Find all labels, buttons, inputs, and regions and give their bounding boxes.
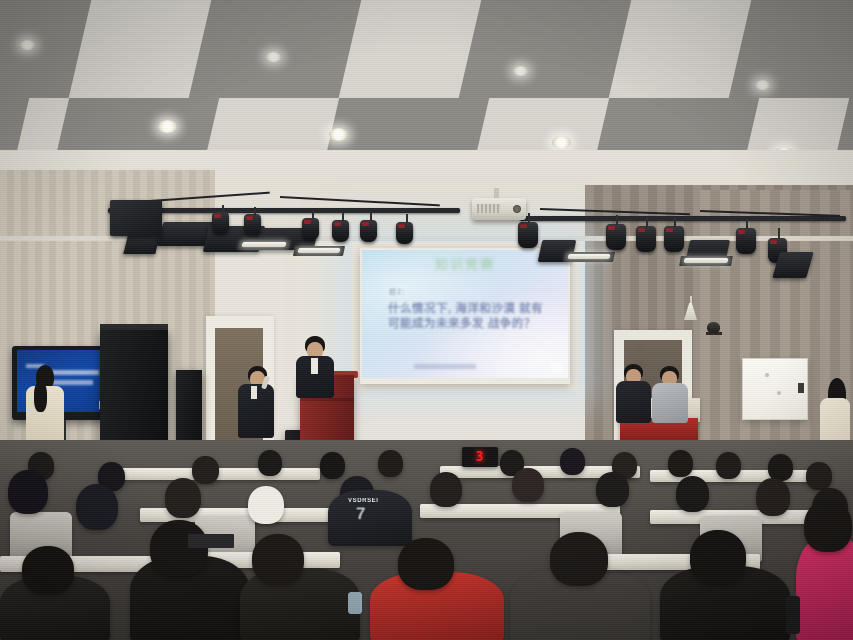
audience-head [550, 532, 608, 586]
thermos-bottle [786, 596, 800, 634]
whiteboard [742, 358, 808, 420]
stage-light-par [736, 228, 756, 254]
projector-lens-icon [513, 205, 521, 213]
audience-head [150, 520, 208, 576]
led-bar-light [684, 258, 729, 263]
stage-light-par [518, 222, 538, 248]
whiteboard-clip-icon [798, 383, 804, 393]
audience-head [668, 450, 693, 477]
ceiling-projector [472, 198, 526, 220]
audience-head [252, 534, 304, 584]
led-timer-value: 3 [476, 450, 485, 465]
desk-row [120, 468, 320, 480]
slide-header: 知识竞赛 [410, 254, 520, 272]
lighting-truss-right [520, 216, 846, 221]
laptop [188, 534, 234, 548]
slide-number: 题2: [389, 287, 405, 297]
slide-body-text: 什么情况下, 海洋和沙漠 就有可能成为未来多发 战争的？ [388, 302, 546, 332]
ceiling-downlight [329, 128, 348, 141]
ceiling-downlight [158, 120, 177, 133]
audience-head [76, 484, 118, 530]
slide-footer-bar [414, 364, 476, 369]
stage-light-par [332, 220, 349, 242]
ceiling-downlight [266, 52, 281, 62]
stage-light-par [212, 212, 229, 234]
ceiling-downlight [755, 80, 770, 90]
stage-light-par [636, 226, 656, 252]
projector-vent-icon [477, 204, 501, 213]
audience-head [192, 456, 219, 484]
audience-head [676, 476, 709, 512]
audience-head [690, 530, 746, 584]
ceiling-downlight [20, 40, 35, 50]
wall-sconce-stem [690, 296, 692, 304]
audience-head [165, 478, 201, 518]
audience-head [430, 472, 462, 507]
audience-head [8, 470, 48, 514]
stage-light-par [360, 220, 377, 242]
stage-light-par [302, 218, 319, 240]
stage-light-par [606, 224, 626, 250]
audience-head [378, 450, 403, 477]
water-bottle [348, 592, 362, 614]
jersey-number: 7 [356, 504, 365, 524]
security-camera-icon [707, 322, 720, 333]
led-bar-light [567, 254, 610, 259]
audience-head [596, 472, 629, 507]
audience-head [258, 450, 282, 476]
audience-head [768, 454, 793, 481]
stage-light-par [244, 214, 261, 236]
monitor-text-line2 [47, 370, 99, 375]
audience-head [320, 452, 345, 479]
stage-light-par [396, 222, 413, 244]
audience-head [806, 462, 832, 490]
speaker-stack-left [100, 330, 168, 454]
ceiling-downlight [513, 66, 528, 76]
truss-monitor-panel [110, 200, 162, 236]
led-bar-light [297, 248, 340, 253]
audience-head [804, 500, 852, 552]
podium-shadow [300, 398, 354, 401]
lecture-hall-photo: 知识竞赛 题2: 什么情况下, 海洋和沙漠 就有可能成为未来多发 战争的？ [0, 0, 853, 640]
audience-head [756, 478, 790, 516]
audience-head [22, 546, 74, 594]
audience-head [716, 452, 741, 479]
audience-head [248, 486, 284, 524]
ceiling-downlight [552, 136, 571, 149]
led-bar-light [241, 242, 286, 247]
stage-light-par [664, 226, 684, 252]
projection-screen: 知识竞赛 题2: 什么情况下, 海洋和沙漠 就有可能成为未来多发 战争的？ [362, 250, 568, 378]
audience-head [512, 468, 544, 502]
audience-head [560, 448, 585, 475]
audience-foreground-torso [240, 568, 360, 640]
slide-logo-icon [551, 362, 562, 373]
audience-head [398, 538, 454, 590]
led-timer-display: 3 [462, 447, 498, 467]
